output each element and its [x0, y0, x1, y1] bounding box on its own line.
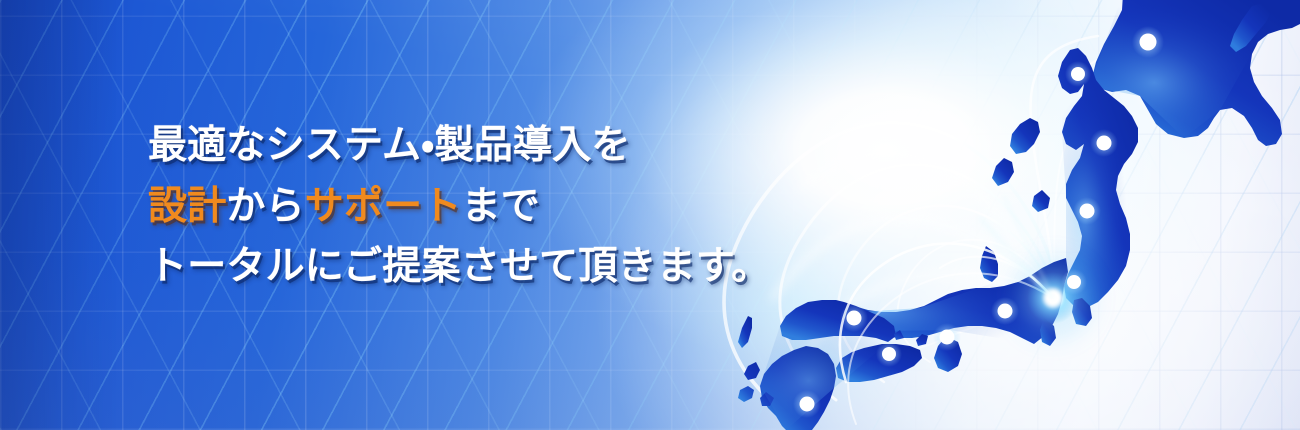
node-takamatsu	[876, 341, 902, 367]
headline-plain-made: まで	[462, 185, 540, 228]
node-fukuoka	[793, 390, 821, 418]
island-sado	[1032, 190, 1050, 212]
headline-block: 最適なシステム・製品導入を 設計からサポートまで トータルにご提案させて頂きます…	[148, 121, 770, 293]
headline-line-3: トータルにご提案させて頂きます。	[148, 242, 770, 293]
node-yokohama	[1061, 269, 1087, 295]
headline-accent-sekkei: 設計	[148, 185, 226, 228]
japan-landmass	[738, 0, 1300, 430]
island-tsushima	[738, 316, 752, 348]
headline-plain-kara: から	[226, 185, 304, 228]
hero-banner: 最適なシステム・製品導入を 設計からサポートまで トータルにご提案させて頂きます…	[0, 0, 1300, 430]
node-nagoya	[991, 297, 1019, 325]
node-niigata	[1073, 197, 1101, 225]
node-aomori	[1065, 61, 1091, 87]
node-sendai	[1090, 129, 1118, 157]
node-sapporo	[1132, 26, 1164, 58]
headline-accent-support: サポート	[305, 185, 462, 228]
headline-line-1: 最適なシステム・製品導入を	[148, 121, 770, 172]
node-osaka	[933, 323, 961, 351]
coast-tohoku-west	[1010, 118, 1040, 154]
peninsula-oga	[992, 158, 1014, 186]
headline-line-2: 設計からサポートまで	[148, 182, 770, 233]
node-hiroshima	[840, 304, 868, 332]
